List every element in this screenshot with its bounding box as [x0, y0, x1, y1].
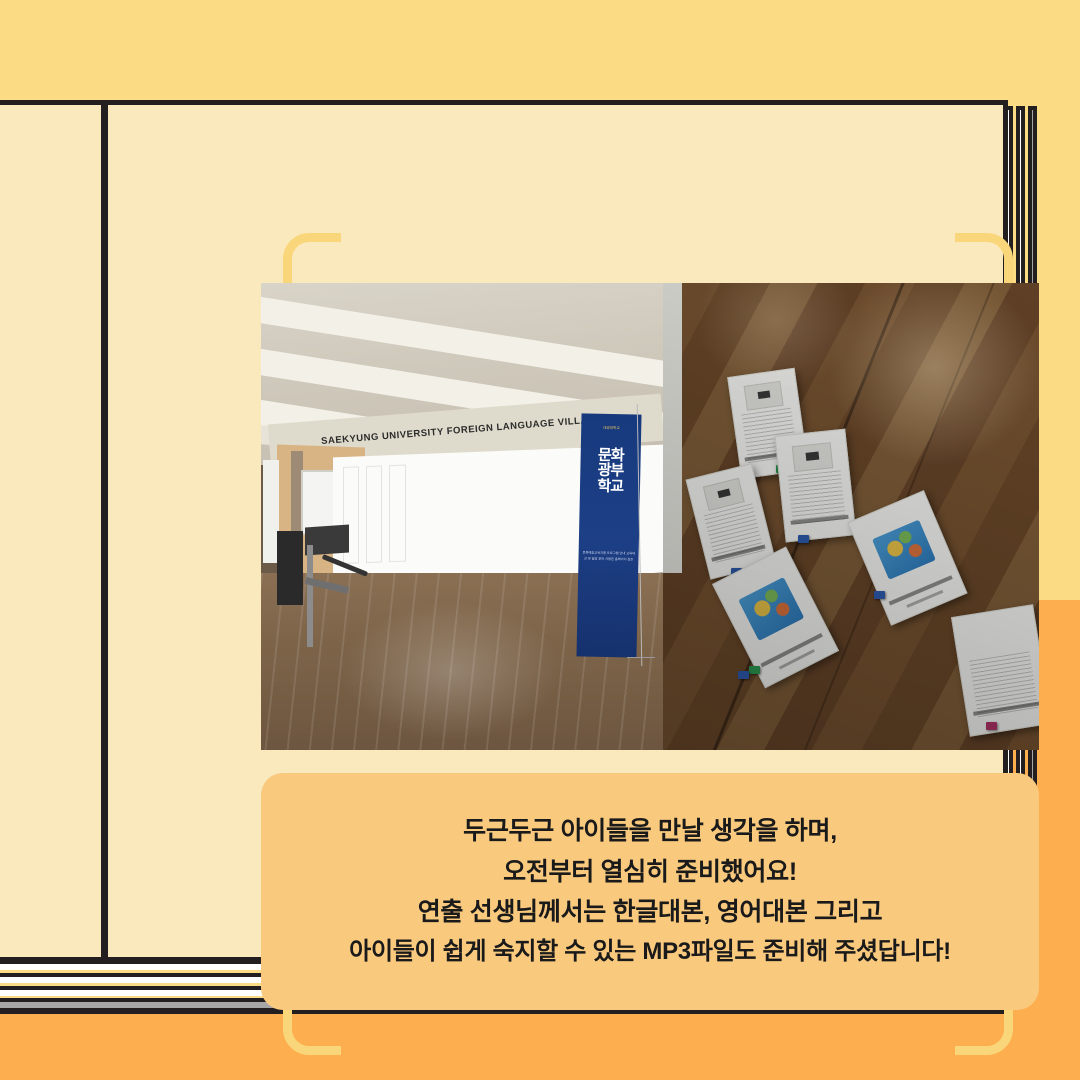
rollup-banner: 대경대학교 문화광부학교 문화예술교육지원 프로그램 안내 교육대상 및 일정 …: [576, 413, 641, 657]
caption-line-1: 두근두근 아이들을 만날 생각을 하며,: [463, 811, 837, 852]
room-wall: [663, 283, 682, 573]
caption-line-3: 연출 선생님께서는 한글대본, 영어대본 그리고: [418, 892, 883, 933]
banner-headline: 문화광부학교: [579, 447, 640, 494]
caption-box: 두근두근 아이들을 만날 생각을 하며, 오전부터 열심히 준비했어요! 연출 …: [261, 773, 1039, 1010]
globe-cover-art: [872, 520, 937, 581]
open-book-illustration: SAEKYUNG UNIVERSITY FOREIGN LANGUAGE VIL…: [0, 100, 1012, 1010]
globe-cover-art: [738, 577, 805, 641]
page-content: SAEKYUNG UNIVERSITY FOREIGN LANGUAGE VIL…: [253, 273, 1043, 1033]
scripts-on-floor-photo: [663, 283, 1039, 750]
script-text-lines: [742, 408, 798, 463]
script-booklet: [712, 546, 839, 688]
script-text-lines: [788, 471, 846, 527]
script-title-bar: [974, 701, 1039, 716]
booklet-title-bar: [889, 576, 953, 606]
wall-panel: [366, 466, 382, 564]
caption-line-4: 아이들이 쉽게 숙지할 수 있는 MP3파일도 준비해 주셨답니다!: [349, 933, 951, 972]
binder-clip: [776, 465, 787, 473]
script-title-bar: [745, 449, 800, 461]
floor-reflection: [341, 601, 562, 741]
binder-clip: [798, 535, 809, 543]
script-title-bar: [790, 515, 848, 525]
caption-line-2: 오전부터 열심히 준비했어요!: [503, 852, 797, 893]
binder-clip: [749, 666, 760, 674]
script-stack: [728, 368, 809, 479]
binder-clip: [731, 568, 742, 576]
script-text-lines: [704, 503, 764, 562]
script-title-bar: [711, 544, 766, 561]
banner-subtext: 문화예술교육지원 프로그램 안내 교육대상 및 일정 문의 사항은 홈페이지 참…: [582, 549, 635, 562]
booklet-title-bar: [761, 633, 823, 667]
lecture-hall-photo: SAEKYUNG UNIVERSITY FOREIGN LANGUAGE VIL…: [261, 283, 663, 750]
script-stack: [774, 429, 856, 543]
script-stack: [951, 604, 1039, 737]
photo-row: SAEKYUNG UNIVERSITY FOREIGN LANGUAGE VIL…: [261, 283, 1039, 750]
speaker-box: [277, 531, 303, 606]
banner-top-text: 대경대학교: [581, 425, 641, 431]
script-stack: [685, 463, 776, 579]
script-booklet: [847, 491, 967, 626]
binder-clip: [738, 671, 749, 679]
binder-clip: [986, 722, 997, 730]
wall-panel: [389, 465, 405, 563]
script-thumbnail: [792, 442, 833, 472]
left-page: [0, 100, 106, 962]
booklet-subtitle-bar: [906, 591, 943, 609]
script-thumbnail: [744, 381, 784, 411]
booklet-subtitle-bar: [779, 648, 815, 668]
right-page: SAEKYUNG UNIVERSITY FOREIGN LANGUAGE VIL…: [103, 100, 1008, 962]
mic-stand: [307, 545, 313, 648]
binder-clip: [874, 591, 885, 599]
floor-seam: [775, 283, 1004, 750]
floor-seam: [685, 283, 915, 750]
banner-base: [627, 657, 655, 658]
script-text-lines: [969, 652, 1039, 718]
script-thumbnail: [703, 478, 745, 511]
